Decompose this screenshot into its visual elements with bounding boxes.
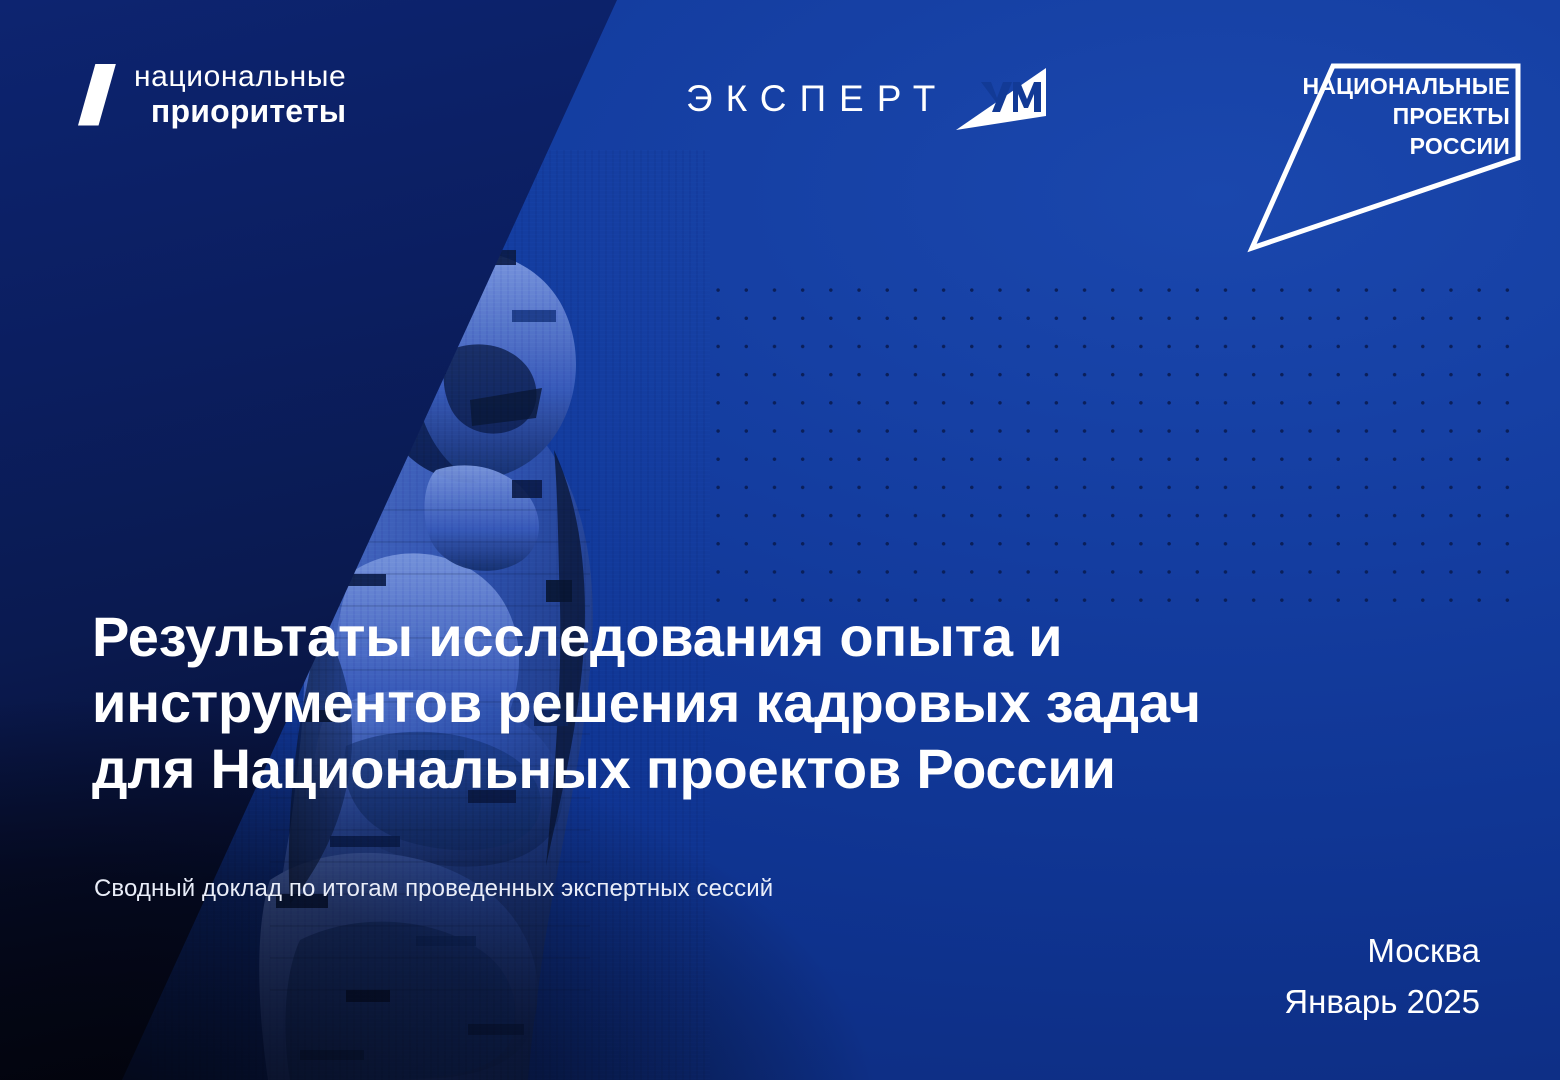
logo-national-priorities-wordmark: национальные приоритеты bbox=[134, 62, 346, 127]
logo-npr-line1: НАЦИОНАЛЬНЫЕ bbox=[1303, 72, 1510, 102]
place-and-date: Москва Январь 2025 bbox=[1284, 925, 1480, 1027]
logo-national-projects-russia[interactable]: НАЦИОНАЛЬНЫЕ ПРОЕКТЫ РОССИИ bbox=[1238, 36, 1528, 266]
logo-npr-line2: ПРОЕКТЫ bbox=[1303, 102, 1510, 132]
logo-expert[interactable]: ЭКСПЕРТ bbox=[686, 66, 1046, 132]
place-label: Москва bbox=[1284, 925, 1480, 976]
logo-national-priorities[interactable]: национальные приоритеты bbox=[78, 62, 346, 127]
title-slide: национальные приоритеты ЭКСПЕРТ НАЦИОНАЛ… bbox=[0, 0, 1560, 1080]
slide-title: Результаты исследования опыта и инструме… bbox=[92, 604, 1392, 802]
logo-npr-line3: РОССИИ bbox=[1303, 132, 1510, 162]
expert-um-icon bbox=[950, 66, 1046, 132]
logo-npr-wordmark: НАЦИОНАЛЬНЫЕ ПРОЕКТЫ РОССИИ bbox=[1303, 72, 1510, 162]
logo-np-line2: приоритеты bbox=[134, 95, 346, 127]
slide-subtitle: Сводный доклад по итогам проведенных экс… bbox=[94, 875, 773, 903]
slash-icon bbox=[78, 64, 116, 126]
date-label: Январь 2025 bbox=[1284, 976, 1480, 1027]
logo-expert-word: ЭКСПЕРТ bbox=[686, 78, 948, 120]
logo-np-line1: национальные bbox=[134, 62, 346, 92]
